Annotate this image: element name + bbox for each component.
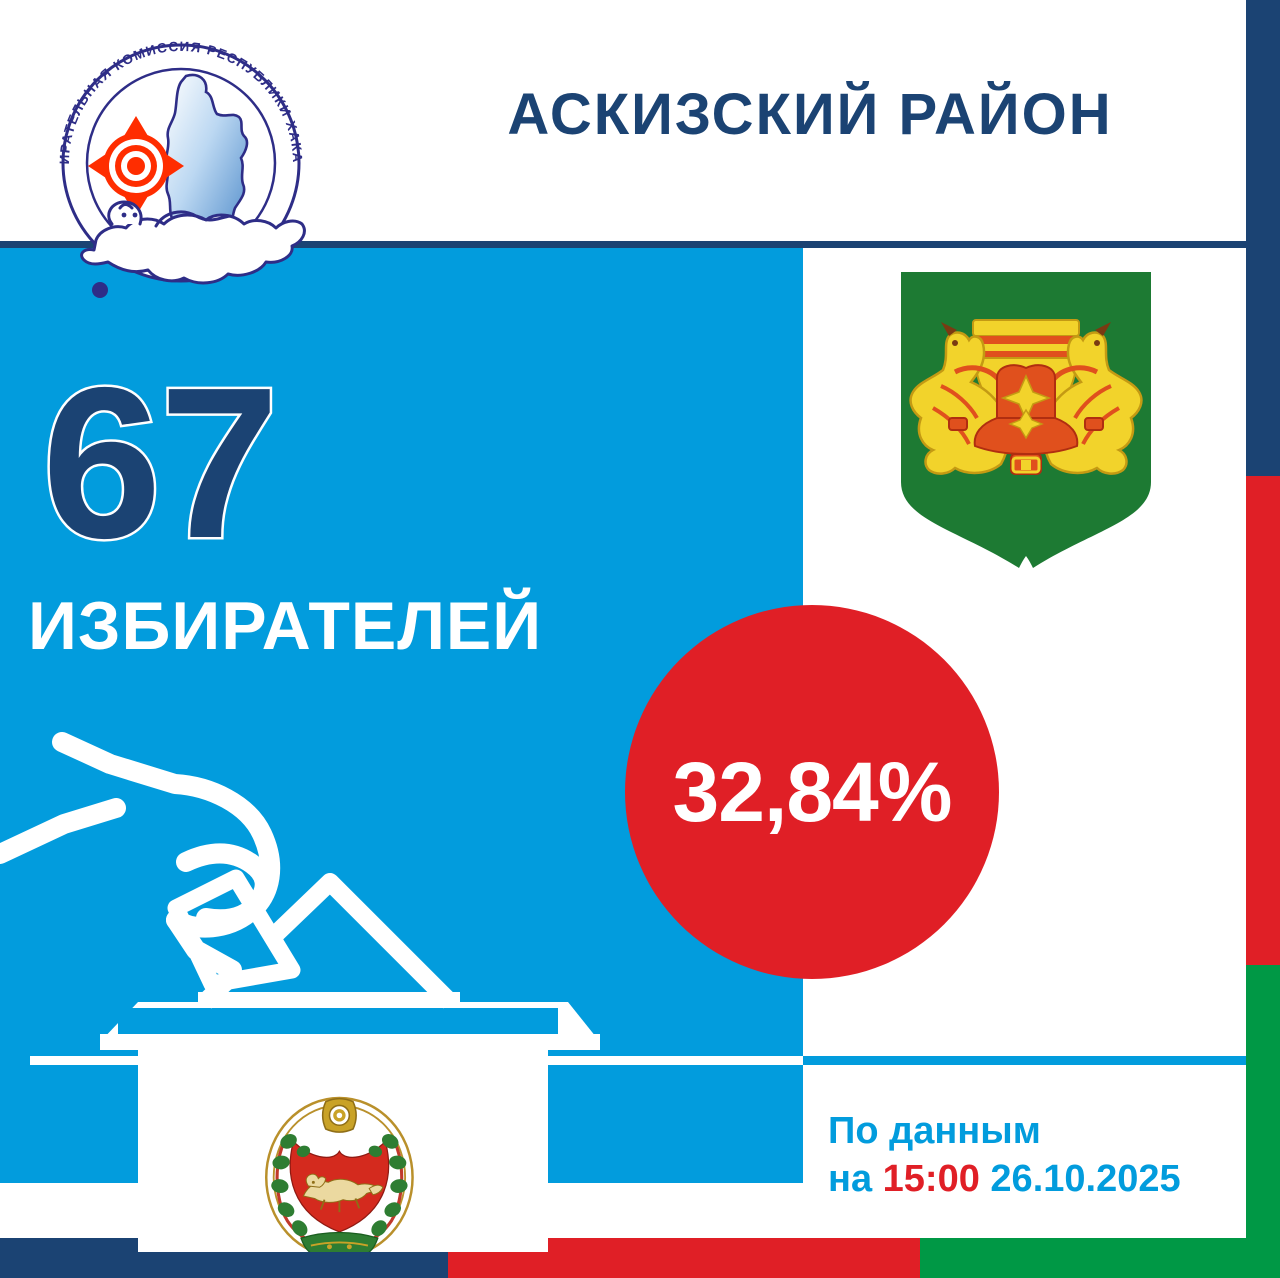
infographic-poster: АСКИЗСКИЙ РАЙОН ИЗБИРАТЕЛЬНАЯ КОМИССИЯ Р… [0,0,1280,1278]
page-title: АСКИЗСКИЙ РАЙОН [430,86,1190,144]
logo-foot-dot [92,282,108,298]
footer-time: 15:00 [883,1158,980,1200]
right-bar-segment-green [1246,965,1280,1278]
turnout-value: 32,84% [673,750,952,834]
footer-at-word: на [828,1158,872,1200]
right-color-bar [1246,0,1280,1278]
data-timestamp-note: По данным на 15:00 26.10.2025 [828,1108,1181,1203]
district-coat-of-arms [893,268,1159,578]
ballot-box-illustration [0,712,600,1252]
bottom-bar-segment-green [920,1238,1280,1278]
right-bar-segment-red [1246,476,1280,965]
footer-date: 26.10.2025 [990,1158,1180,1200]
khakassia-coat-of-arms [266,1098,412,1252]
footer-prefix: По данным [828,1110,1041,1152]
election-commission-logo: ИЗБИРАТЕЛЬНАЯ КОМИССИЯ РЕСПУБЛИКИ ХАКАСИ… [36,18,326,308]
voters-count: 67 [42,355,277,570]
coa-sun-emblem [323,1099,356,1132]
blue-horizontal-rule [803,1056,1246,1065]
voters-label: ИЗБИРАТЕЛЕЙ [28,592,542,660]
right-bar-segment-navy [1246,0,1280,476]
turnout-badge: 32,84% [625,605,999,979]
